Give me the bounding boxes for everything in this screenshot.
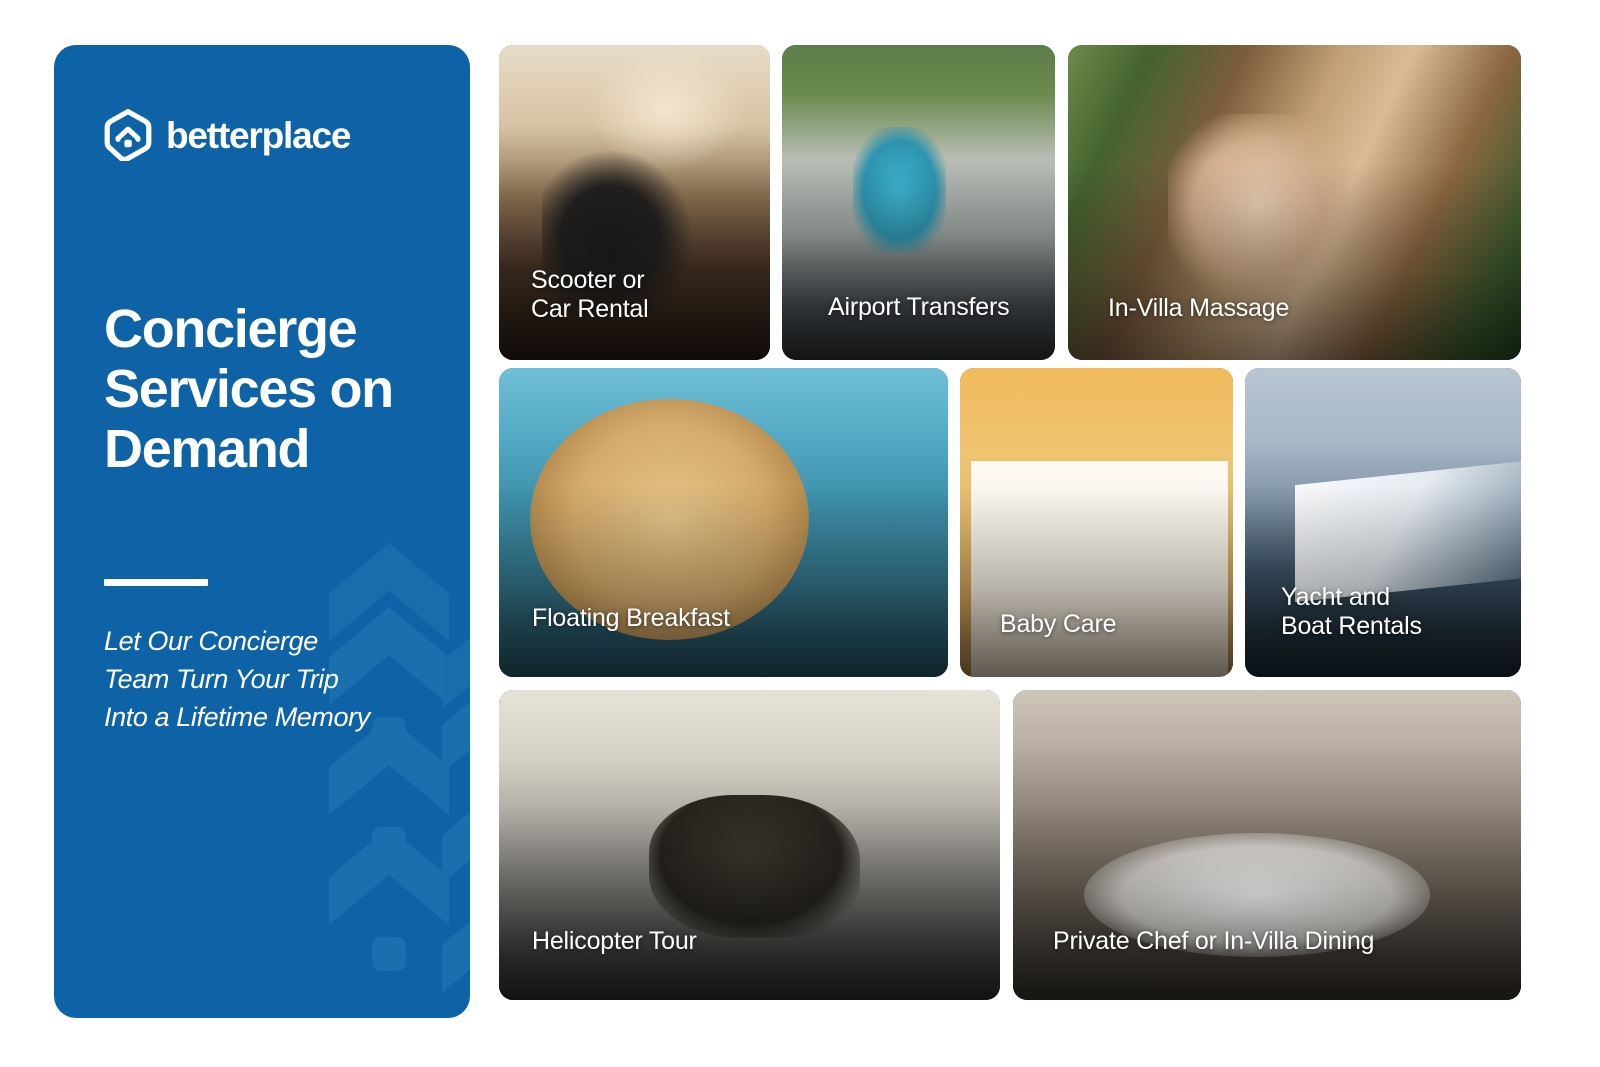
service-card-scooter-or-car-rental[interactable]: Scooter or Car Rental [499, 45, 770, 360]
card-scrim [1013, 808, 1521, 1000]
poster-canvas: betterplace Concierge Services on Demand… [0, 0, 1600, 1067]
hexagon-house-icon [104, 109, 152, 161]
page-title: Concierge Services on Demand [104, 300, 422, 480]
card-label: Airport Transfers [828, 293, 1009, 322]
card-label: Private Chef or In-Villa Dining [1053, 927, 1374, 956]
service-card-helicopter-tour[interactable]: Helicopter Tour [499, 690, 1000, 1000]
card-scrim [1068, 165, 1521, 360]
card-scrim [499, 165, 770, 360]
hero-subtitle: Let Our Concierge Team Turn Your Trip In… [104, 622, 422, 737]
card-scrim [1245, 485, 1521, 677]
service-card-private-chef-or-in-villa-dining[interactable]: Private Chef or In-Villa Dining [1013, 690, 1521, 1000]
service-card-airport-transfers[interactable]: Airport Transfers [782, 45, 1055, 360]
service-card-grid: Scooter or Car Rental Airport Transfers … [499, 45, 1521, 1000]
card-label: Yacht and Boat Rentals [1281, 583, 1422, 642]
brand-logo: betterplace [104, 109, 422, 161]
card-label: Helicopter Tour [532, 927, 697, 956]
title-divider [104, 579, 208, 586]
service-card-yacht-and-boat-rentals[interactable]: Yacht and Boat Rentals [1245, 368, 1521, 677]
card-label: Baby Care [1000, 610, 1116, 639]
card-scrim [499, 485, 948, 677]
service-card-baby-care[interactable]: Baby Care [960, 368, 1233, 677]
hero-panel: betterplace Concierge Services on Demand… [54, 45, 470, 1018]
card-scrim [960, 485, 1233, 677]
brand-name: betterplace [166, 117, 350, 154]
card-scrim [499, 808, 1000, 1000]
card-label: Floating Breakfast [532, 604, 730, 633]
service-card-in-villa-massage[interactable]: In-Villa Massage [1068, 45, 1521, 360]
card-label: In-Villa Massage [1108, 294, 1289, 323]
card-scrim [782, 165, 1055, 360]
card-label: Scooter or Car Rental [531, 266, 649, 325]
service-card-floating-breakfast[interactable]: Floating Breakfast [499, 368, 948, 677]
